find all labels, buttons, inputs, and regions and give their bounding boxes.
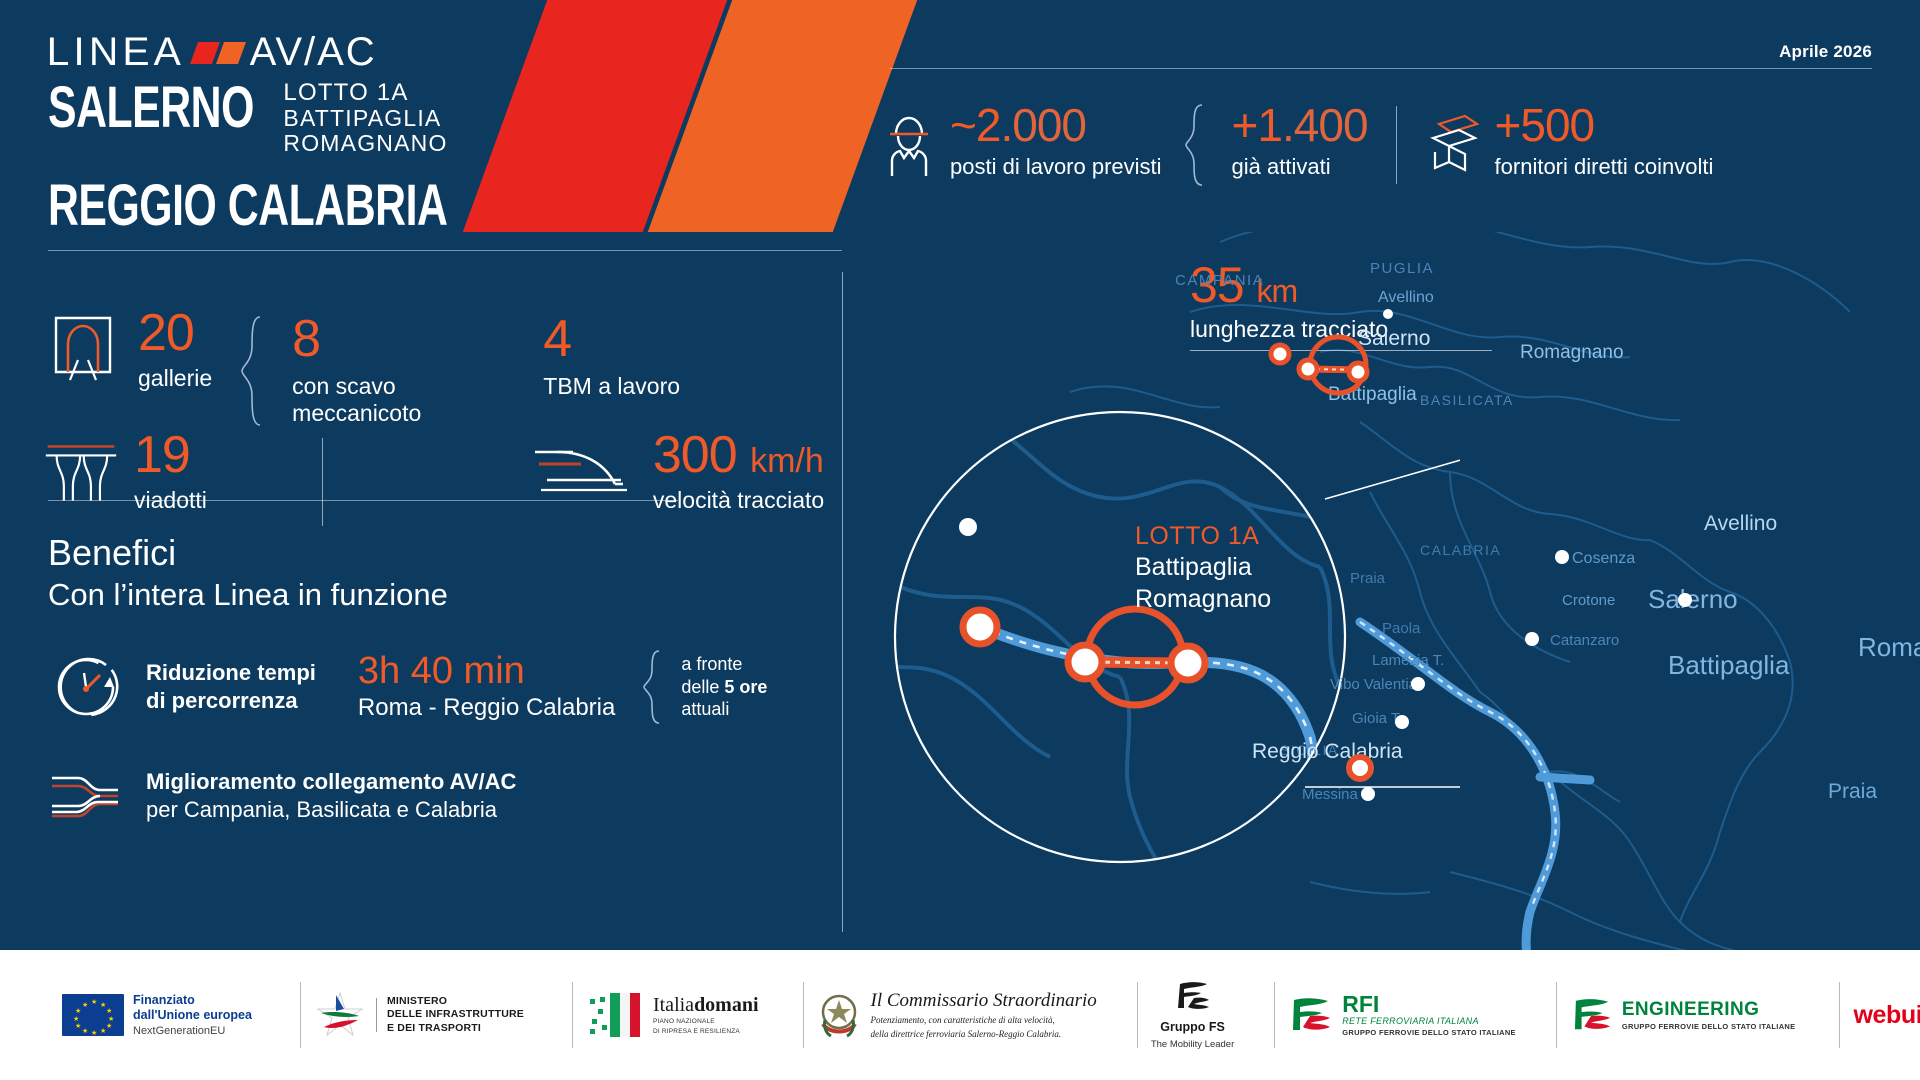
brace-divider-icon-3 (641, 650, 667, 724)
rail-junction-icon (48, 760, 124, 832)
benefit1-note-l3: attuali (681, 698, 767, 721)
logo-mit: MINISTERO DELLE INFRASTRUTTURE E DEI TRA… (300, 978, 538, 1052)
date-label: Aprile 2026 (1779, 42, 1872, 62)
fs-monogram-green-icon (1288, 996, 1334, 1034)
row-viaducts: 19 viadotti 300 km/h velocità tracciato (44, 432, 824, 513)
velocita-label: velocità tracciato (653, 487, 824, 513)
stat-suppliers-label: fornitori diretti coinvolti (1495, 154, 1714, 180)
tbm-value: 4 (543, 316, 680, 363)
stat-active-label: già attivati (1232, 154, 1368, 180)
stat-jobs-planned: ~2.000 posti di lavoro previsti (880, 104, 1162, 180)
viadotti-value: 19 (134, 432, 207, 479)
brand-avac-word: AV/AC (250, 30, 377, 75)
logo-engineering: ENGINEERING GRUPPO FERROVIE DELLO STATO … (1556, 978, 1810, 1052)
lotto-to: ROMAGNANO (283, 131, 447, 156)
panel-rule-top (48, 250, 842, 251)
italiadomani-name: Italiadomani (653, 994, 759, 1017)
fs-monogram-eng-icon (1570, 997, 1614, 1033)
mit-star-icon (314, 989, 366, 1041)
stat-gallerie: 20 gallerie (48, 310, 212, 391)
divider-viaduct-speed (322, 438, 323, 526)
tunnel-icon (48, 310, 122, 384)
rfi-sub: RETE FERROVIARIA ITALIANA (1342, 1016, 1516, 1026)
scavo-label: con scavo meccanicoto (292, 373, 421, 428)
italiadomani-sub1: PIANO NAZIONALE (653, 1018, 759, 1026)
fs-name: Gruppo FS (1151, 1020, 1234, 1034)
benefit1-value-block: 3h 40 min Roma - Reggio Calabria (358, 652, 615, 722)
engineering-group: GRUPPO FERROVIE DELLO STATO ITALIANE (1622, 1022, 1796, 1031)
viaduct-icon (44, 432, 118, 506)
stat-scavo-meccanico: 8 con scavo meccanicoto (292, 316, 421, 428)
brand-lotto-block: LOTTO 1A BATTIPAGLIA ROMAGNANO (283, 80, 447, 156)
panel-divider-vertical (842, 272, 843, 932)
logo-gruppo-fs: Gruppo FS The Mobility Leader (1137, 978, 1248, 1052)
benefit1-title-l2: di percorrenza (146, 687, 316, 715)
logo-eu: ★ ★ ★ ★ ★ ★ ★ ★ ★ ★ ★ ★ Finanziato dall'… (48, 978, 266, 1052)
velocita-value: 300 km/h (653, 432, 824, 479)
eu-text-l1: Finanziato (133, 993, 252, 1008)
stat-jobs-label: posti di lavoro previsti (950, 154, 1162, 180)
benefit1-value: 3h 40 min (358, 652, 615, 692)
train-icon (527, 438, 637, 500)
map-nodes-layer (890, 232, 1920, 950)
brand-city-reggio: REGGIO CALABRIA (48, 170, 448, 232)
lotto-from: BATTIPAGLIA (283, 106, 447, 131)
left-stats-panel: 20 gallerie 8 con scavo meccanicoto 4 TB… (0, 232, 890, 950)
rfi-name: RFI (1342, 993, 1516, 1016)
footer-logo-bar: ★ ★ ★ ★ ★ ★ ★ ★ ★ ★ ★ ★ Finanziato dall'… (0, 950, 1920, 1080)
logo-rfi: RFI RETE FERROVIARIA ITALIANA GRUPPO FER… (1274, 978, 1530, 1052)
infographic-root: LINEA AV/AC SALERNO LOTTO 1A BATTIPAGLIA… (0, 0, 1920, 1080)
scavo-value: 8 (292, 316, 421, 363)
clock-icon (48, 651, 124, 723)
eu-text-l2: dall'Unione europea (133, 1008, 252, 1023)
row-tunnels: 20 gallerie 8 con scavo meccanicoto 4 TB… (48, 310, 680, 428)
steel-beams-icon (1425, 104, 1483, 176)
chevron-dashes-icon (194, 42, 242, 64)
benefit-connection: Miglioramento collegamento AV/AC per Cam… (48, 760, 516, 832)
logo-webuild: webuild (1839, 978, 1920, 1052)
stat-jobs-active: +1.400 già attivati (1232, 104, 1368, 180)
commissario-sub1: Potenziamento, con caratteristiche di al… (871, 1014, 1097, 1026)
panel-rule-benefici (48, 500, 678, 501)
commissario-sub2: della direttrice ferroviaria Salerno-Reg… (871, 1028, 1097, 1040)
benefit1-note-l2: delle 5 ore (681, 676, 767, 699)
eu-text-l3: NextGenerationEU (133, 1025, 252, 1037)
vertical-divider (1396, 106, 1397, 184)
header-divider-rule (890, 68, 1872, 69)
worker-helmet-icon (880, 104, 938, 176)
brand-linea-word: LINEA (47, 30, 185, 75)
logo-commissario: Il Commissario Straordinario Potenziamen… (803, 978, 1111, 1052)
fs-monogram-icon (1174, 980, 1212, 1010)
benefit2-subtitle: per Campania, Basilicata e Calabria (146, 796, 516, 824)
eu-flag-icon: ★ ★ ★ ★ ★ ★ ★ ★ ★ ★ ★ ★ (62, 994, 124, 1036)
gallerie-value: 20 (138, 310, 212, 357)
benefit1-title-l1: Riduzione tempi (146, 659, 316, 687)
benefit2-title: Miglioramento collegamento AV/AC (146, 768, 516, 796)
italiadomani-flag-icon (586, 989, 644, 1041)
rfi-group: GRUPPO FERROVIE DELLO STATO ITALIANE (1342, 1028, 1516, 1037)
republic-emblem-icon (817, 990, 861, 1040)
stat-suppliers-value: +500 (1495, 104, 1714, 148)
mit-text-l1: MINISTERO (387, 995, 524, 1009)
brace-divider-icon-2 (240, 316, 266, 426)
stat-tbm: 4 TBM a lavoro (543, 316, 680, 400)
stat-jobs-value: ~2.000 (950, 104, 1162, 148)
brace-divider-icon (1184, 104, 1210, 186)
brand-city-salerno: SALERNO (48, 77, 254, 136)
stat-velocita: 300 km/h velocità tracciato (527, 432, 824, 513)
logo-italiadomani: Italiadomani PIANO NAZIONALE DI RIPRESA … (572, 978, 773, 1052)
mit-text-l2: DELLE INFRASTRUTTURE (387, 1008, 524, 1022)
benefit-travel-time: Riduzione tempi di percorrenza 3h 40 min… (48, 650, 767, 724)
header-stats-group: ~2.000 posti di lavoro previsti +1.400 g… (880, 104, 1713, 186)
tbm-label: TBM a lavoro (543, 373, 680, 401)
lotto-label: LOTTO 1A (283, 80, 447, 106)
fs-tagline: The Mobility Leader (1151, 1039, 1234, 1050)
italiadomani-sub2: DI RIPRESA E RESILIENZA (653, 1028, 759, 1036)
header-band: LINEA AV/AC SALERNO LOTTO 1A BATTIPAGLIA… (0, 0, 1920, 232)
benefici-subtitle: Con l’intera Linea in funzione (48, 576, 448, 613)
mit-text-l3: E DEI TRASPORTI (387, 1022, 524, 1036)
stat-active-value: +1.400 (1232, 104, 1368, 148)
benefici-title: Benefici (48, 532, 448, 574)
stat-suppliers: +500 fornitori diretti coinvolti (1425, 104, 1714, 180)
benefit1-note: a fronte delle 5 ore attuali (681, 653, 767, 721)
webuild-name: webuild (1853, 1001, 1920, 1030)
benefit1-value-sub: Roma - Reggio Calabria (358, 694, 615, 722)
benefit1-note-l1: a fronte (681, 653, 767, 676)
brand-lockup: LINEA AV/AC SALERNO LOTTO 1A BATTIPAGLIA… (48, 30, 478, 224)
map-area: 35 km lunghezza tracciato (890, 232, 1920, 950)
commissario-title: Il Commissario Straordinario (871, 990, 1097, 1012)
benefici-heading-block: Benefici Con l’intera Linea in funzione (48, 532, 448, 614)
gallerie-label: gallerie (138, 365, 212, 391)
stat-viadotti: 19 viadotti (44, 432, 207, 513)
engineering-name: ENGINEERING (1622, 1000, 1796, 1019)
